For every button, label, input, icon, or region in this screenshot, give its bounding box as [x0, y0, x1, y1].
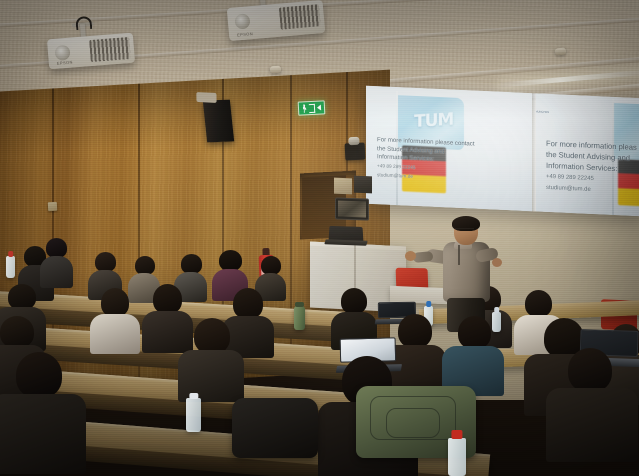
projector-vents	[279, 4, 321, 29]
black-backpack	[232, 398, 318, 458]
water-bottle	[492, 312, 501, 332]
wall-shelf-box	[334, 178, 352, 195]
emergency-exit-sign	[298, 100, 326, 115]
bottle-cap	[451, 430, 462, 439]
ceiling-spotlight	[555, 48, 567, 56]
laptop-base	[324, 239, 367, 245]
wall-equipment-box	[354, 176, 372, 194]
green-thermos	[294, 306, 305, 330]
projector-lens-icon	[54, 45, 70, 61]
head	[458, 316, 491, 349]
backpack-strap	[386, 408, 440, 438]
head	[525, 290, 552, 317]
ceiling-spotlight	[270, 66, 281, 74]
arrow-icon	[316, 105, 320, 111]
head	[568, 348, 612, 392]
projection-screen: TUM For more information please contact …	[366, 86, 639, 217]
ceiling-speaker	[203, 100, 234, 143]
torso	[142, 311, 193, 353]
head	[219, 250, 242, 271]
bottle-cap	[426, 301, 432, 307]
projector-cable	[75, 16, 92, 30]
presenter-left-hand	[405, 251, 416, 261]
water-bottle	[186, 398, 201, 432]
head	[233, 288, 263, 319]
head	[153, 284, 182, 314]
head	[341, 288, 367, 314]
tum-flag-label: TUM	[414, 109, 453, 131]
torso	[546, 388, 638, 462]
head-with-cap	[46, 238, 67, 258]
wall-camera	[345, 142, 366, 160]
light-switch[interactable]	[48, 202, 57, 211]
bottle-cap	[8, 251, 14, 257]
head	[95, 252, 116, 272]
projector-brand-label: EPSON	[57, 59, 73, 65]
thermos-cap	[295, 302, 304, 307]
bottle-cap	[494, 307, 500, 313]
torso	[40, 256, 73, 288]
projector-vents	[89, 37, 131, 62]
head	[16, 352, 62, 398]
torso	[0, 394, 86, 474]
presenter-monitor	[335, 197, 369, 220]
water-bottle	[448, 438, 466, 476]
torso	[90, 314, 140, 354]
running-man-icon	[302, 104, 306, 113]
speaker-mount	[196, 92, 216, 103]
head	[101, 288, 129, 317]
lecture-hall-photo: EPSON EPSON	[0, 0, 639, 476]
exit-door-icon	[308, 103, 314, 112]
lectern-laptop	[325, 225, 365, 248]
projector-brand-label: EPSON	[237, 31, 253, 37]
water-bottle	[6, 256, 15, 278]
slide-text-block-left: For more information please contact the …	[377, 136, 525, 186]
projector-lens-icon	[234, 13, 250, 29]
bottle-cap	[189, 393, 198, 399]
presenter-zipper	[458, 245, 460, 265]
head	[398, 314, 432, 348]
head	[194, 318, 230, 354]
presenter-right-hand	[492, 258, 502, 267]
slide-panel-left: TUM For more information please contact …	[366, 86, 532, 212]
head	[181, 254, 202, 274]
slide-panel-right: TUM int TECHNISCHE UNIVERSITAT MUNCHEN F…	[536, 93, 639, 216]
monitor-screen	[338, 201, 366, 218]
presenter-glasses	[455, 228, 474, 233]
head	[0, 316, 34, 348]
slide-text-block-right: For more information pleas the Student A…	[546, 139, 639, 197]
